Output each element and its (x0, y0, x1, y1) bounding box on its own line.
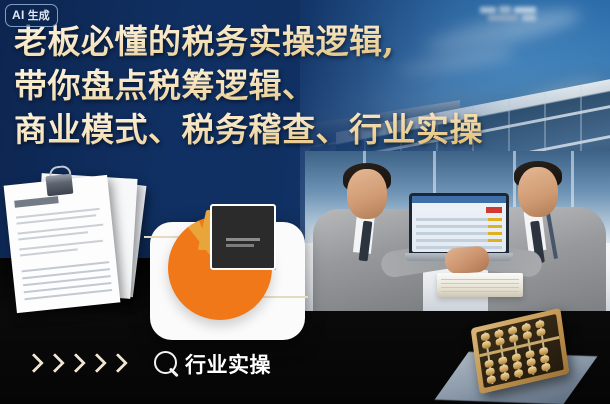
chevron-right-icon-2 (47, 354, 58, 374)
headline-line-3: 商业模式、税务稽查、行业实操 (14, 108, 574, 152)
documents-photo (4, 168, 149, 308)
chevron-right-icon-1 (26, 354, 37, 374)
poster-canvas: AI 生成 老板必懂的税务实操逻辑, 带你盘点税筹逻辑、 商业模式、税务稽查、行… (0, 0, 610, 404)
pie-slice-dark (210, 204, 276, 270)
chevron-right-icon-3 (68, 354, 79, 374)
headline-block: 老板必懂的税务实操逻辑, 带你盘点税筹逻辑、 商业模式、税务稽查、行业实操 (14, 20, 574, 152)
headline-line-2: 带你盘点税筹逻辑、 (14, 64, 574, 108)
handshake-hands (444, 245, 490, 274)
pie-chart-graphic (168, 208, 288, 328)
binder-clip-icon (41, 164, 78, 197)
bottom-bar: 行业实操 (0, 336, 610, 392)
open-notebook (437, 273, 523, 297)
pie-chart-card (150, 222, 305, 340)
chevron-right-icon-5 (110, 354, 121, 374)
search-tag-label: 行业实操 (185, 349, 271, 379)
headline-line-1: 老板必懂的税务实操逻辑, (14, 20, 574, 64)
handshake-photo (305, 151, 610, 311)
search-tag-group: 行业实操 (153, 349, 271, 379)
ai-generated-badge: AI 生成 (5, 4, 58, 27)
magnifier-icon (153, 350, 181, 378)
ai-badge-ai-text: AI (12, 8, 25, 22)
chevron-arrow-group (26, 354, 121, 374)
ai-badge-gen-text: 生成 (28, 7, 50, 23)
chevron-right-icon-4 (89, 354, 100, 374)
blurred-watermark (480, 6, 538, 22)
